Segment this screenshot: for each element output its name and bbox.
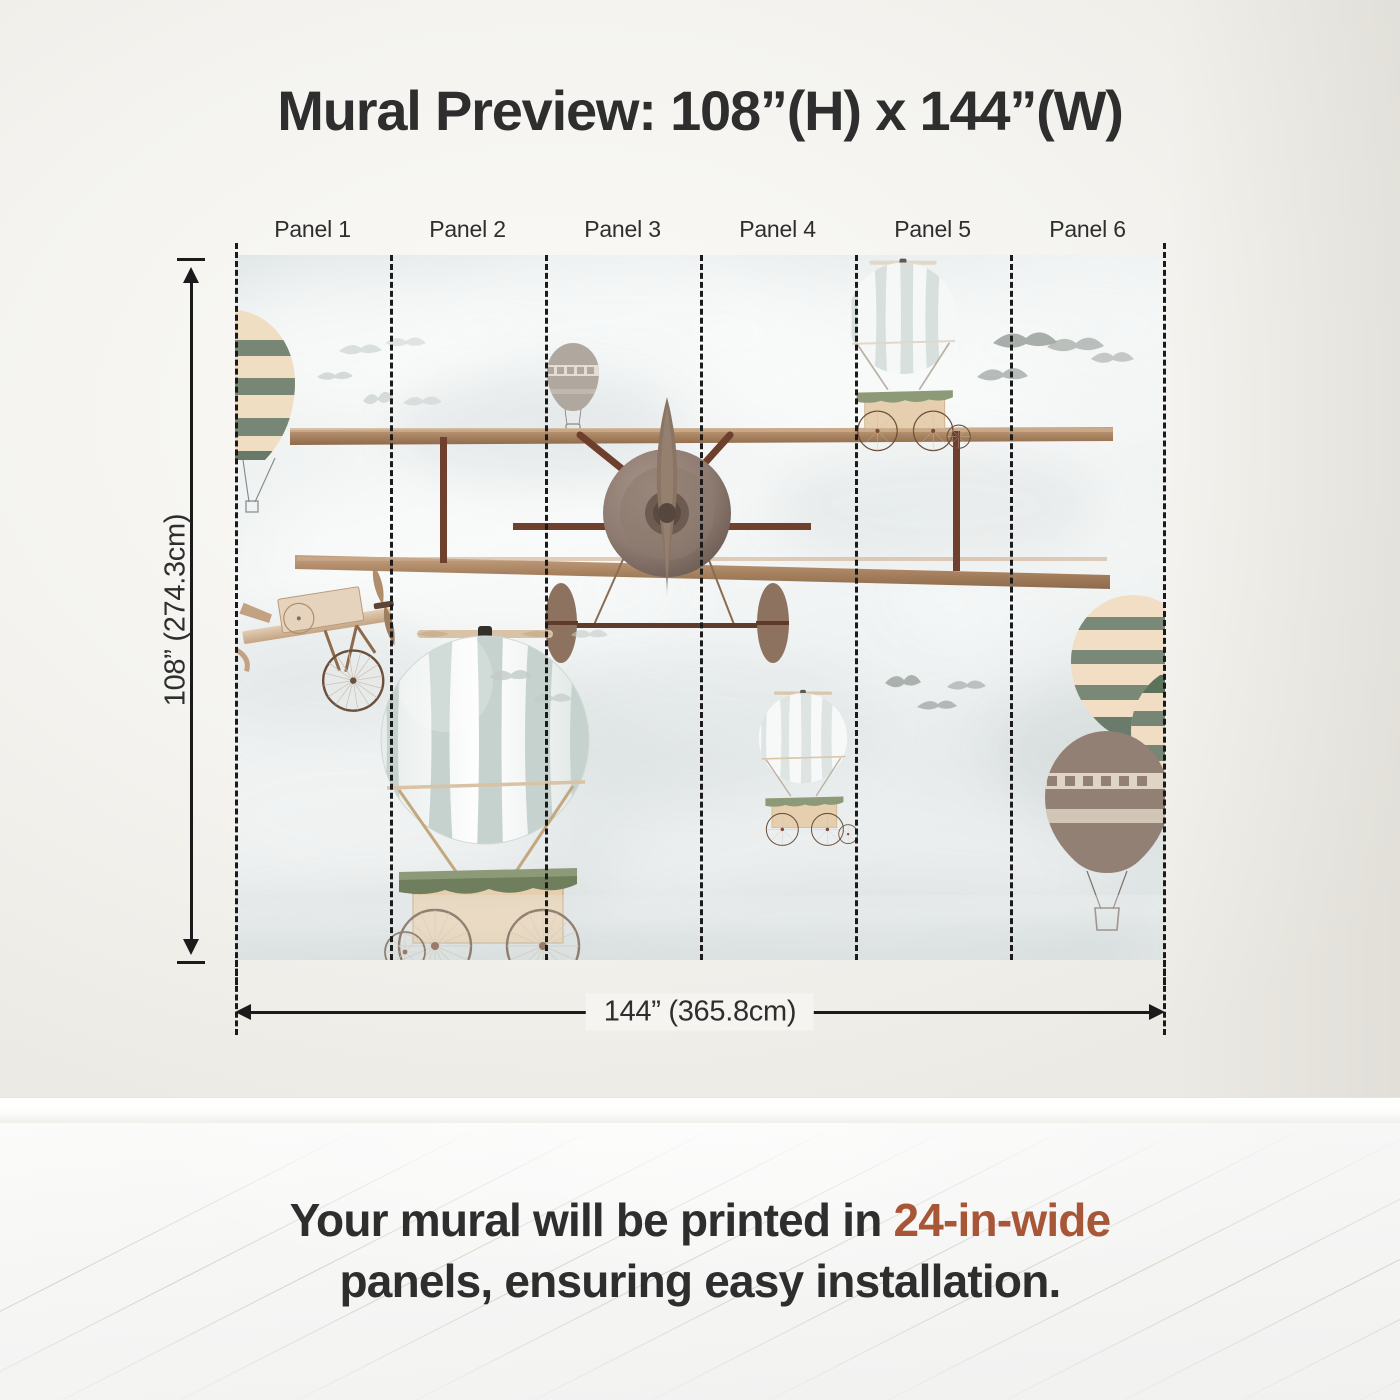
- height-tick-top: [177, 258, 205, 261]
- caption: Your mural will be printed in 24-in-wide…: [0, 1190, 1400, 1311]
- width-arrowhead-right: [1149, 1004, 1165, 1020]
- panel-guide-left-ext: [235, 960, 238, 1035]
- panel-label-1: Panel 1: [235, 216, 390, 250]
- baseboard: [0, 1097, 1400, 1123]
- panel-divider-3-4: [700, 255, 703, 960]
- panel-edge-right: [1163, 243, 1166, 985]
- panel-label-2: Panel 2: [390, 216, 545, 250]
- height-label: 108” (274.3cm): [160, 514, 193, 706]
- panel-label-5: Panel 5: [855, 216, 1010, 250]
- panel-label-3: Panel 3: [545, 216, 700, 250]
- panel-divider-2-3: [545, 255, 548, 960]
- panel-divider-5-6: [1010, 255, 1013, 960]
- caption-line-2: panels, ensuring easy installation.: [0, 1251, 1400, 1312]
- panel-divider-1-2: [390, 255, 393, 960]
- height-tick-bottom: [177, 961, 205, 964]
- panel-guide-right-ext: [1163, 960, 1166, 1035]
- caption-line-1: Your mural will be printed in 24-in-wide: [0, 1190, 1400, 1251]
- panel-label-6: Panel 6: [1010, 216, 1165, 250]
- panel-label-row: Panel 1 Panel 2 Panel 3 Panel 4 Panel 5 …: [235, 216, 1165, 250]
- height-arrowhead-down: [183, 939, 199, 955]
- width-label: 144” (365.8cm): [586, 994, 814, 1031]
- mural-diagram: Panel 1 Panel 2 Panel 3 Panel 4 Panel 5 …: [0, 0, 1400, 1097]
- panel-divider-4-5: [855, 255, 858, 960]
- panel-edge-left: [235, 243, 238, 985]
- caption-highlight: 24-in-wide: [893, 1194, 1110, 1246]
- caption-line-1-text: Your mural will be printed in: [290, 1194, 894, 1246]
- mural-preview-page: Mural Preview: 108”(H) x 144”(W) Panel 1…: [0, 0, 1400, 1400]
- panel-label-4: Panel 4: [700, 216, 855, 250]
